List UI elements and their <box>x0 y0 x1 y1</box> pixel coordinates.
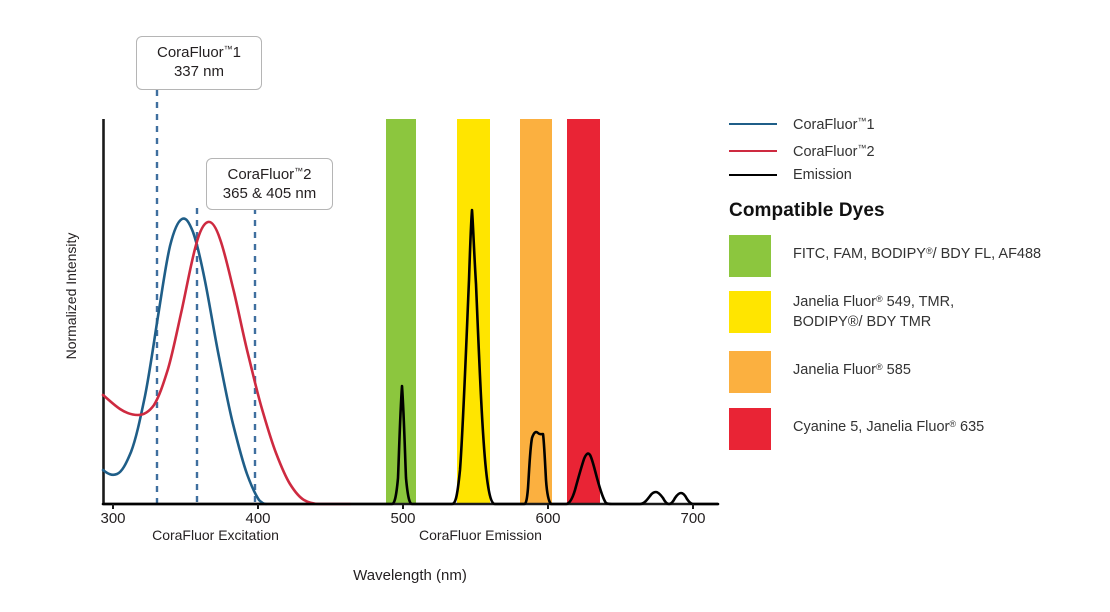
callout-2-value: 365 & 405 nm <box>219 185 320 204</box>
x-tick-label-400: 400 <box>233 510 283 527</box>
legend-line-emission <box>729 174 777 176</box>
legend-label-corafluor-2: CoraFluor™2 <box>793 143 875 160</box>
callout-1-value: 337 nm <box>149 63 249 82</box>
dye-label-red: Cyanine 5, Janelia Fluor® 635 <box>793 408 984 438</box>
dye-label-orange: Janelia Fluor® 585 <box>793 351 911 381</box>
legend-and-dyes-panel: CoraFluor™1 CoraFluor™2 Emission Compati… <box>729 104 1104 444</box>
fluorescence-spectra-figure: CoraFluor™1 337 nm CoraFluor™2 365 & 405… <box>0 0 1110 612</box>
dye-label-green: FITC, FAM, BODIPY®/ BDY FL, AF488 <box>793 235 1041 265</box>
legend-label-emission: Emission <box>793 167 852 183</box>
region-label-emission: CoraFluor Emission <box>393 527 568 543</box>
legend-line-corafluor-2 <box>729 150 777 152</box>
emission-bands <box>386 119 600 503</box>
dye-swatch-red <box>729 408 771 450</box>
dye-label-yellow: Janelia Fluor® 549, TMR, BODIPY®/ BDY TM… <box>793 291 954 332</box>
legend-item-emission: Emission <box>729 165 852 185</box>
band-green <box>386 119 416 503</box>
legend-line-corafluor-1 <box>729 123 777 125</box>
legend-item-corafluor-1: CoraFluor™1 <box>729 114 875 134</box>
excitation-wavelength-markers <box>157 90 255 503</box>
region-label-excitation: CoraFluor Excitation <box>128 527 303 543</box>
dye-item-green: FITC, FAM, BODIPY®/ BDY FL, AF488 <box>729 235 1041 277</box>
dye-swatch-yellow <box>729 291 771 333</box>
legend-item-corafluor-2: CoraFluor™2 <box>729 141 875 161</box>
dye-item-yellow: Janelia Fluor® 549, TMR, BODIPY®/ BDY TM… <box>729 291 954 333</box>
band-red <box>567 119 600 503</box>
y-axis-label: Normalized Intensity <box>63 201 79 391</box>
dye-swatch-orange <box>729 351 771 393</box>
x-tick-label-700: 700 <box>668 510 718 527</box>
x-tick-label-300: 300 <box>88 510 138 527</box>
callout-corafluor-2: CoraFluor™2 365 & 405 nm <box>206 158 333 210</box>
legend-label-corafluor-1: CoraFluor™1 <box>793 116 875 133</box>
band-orange <box>520 119 552 503</box>
dye-item-orange: Janelia Fluor® 585 <box>729 351 911 393</box>
dye-swatch-green <box>729 235 771 277</box>
callout-2-title: CoraFluor™2 <box>219 166 320 185</box>
callout-1-title: CoraFluor™1 <box>149 44 249 63</box>
x-tick-label-600: 600 <box>523 510 573 527</box>
dye-item-red: Cyanine 5, Janelia Fluor® 635 <box>729 408 984 450</box>
curve-corafluor-1 <box>103 219 266 504</box>
compatible-dyes-heading: Compatible Dyes <box>729 200 885 222</box>
x-axis-label: Wavelength (nm) <box>290 567 530 584</box>
x-tick-label-500: 500 <box>378 510 428 527</box>
callout-corafluor-1: CoraFluor™1 337 nm <box>136 36 262 90</box>
curve-corafluor-2 <box>103 222 350 504</box>
